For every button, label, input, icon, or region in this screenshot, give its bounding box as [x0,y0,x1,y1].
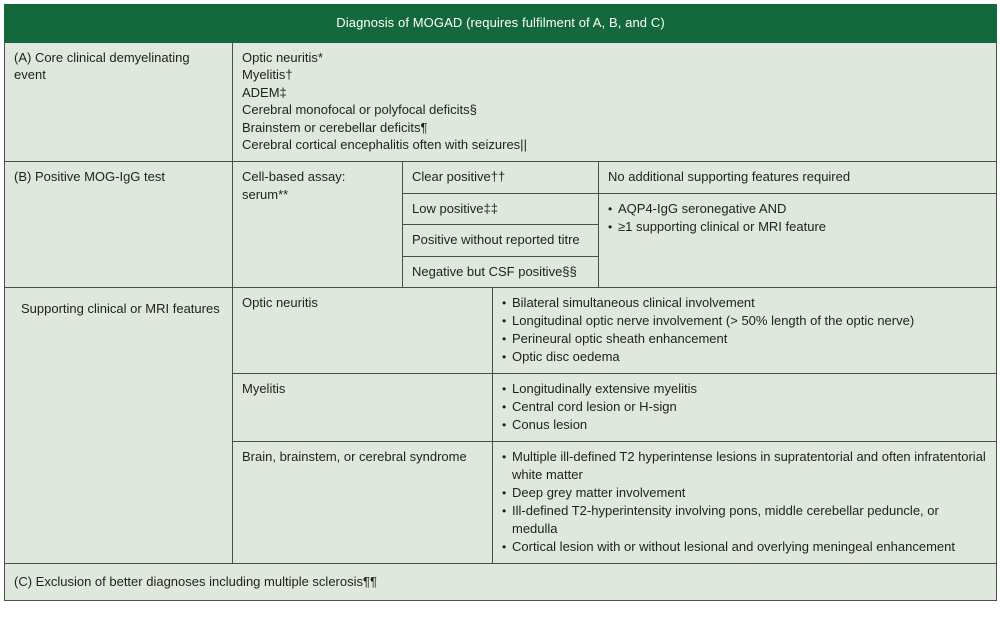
list-item: Ill-defined T2-hyperintensity involving … [502,502,987,538]
brain-brainstem-feature-list: Multiple ill-defined T2 hyperintense les… [502,448,987,556]
section-b-assay-label: Cell-based assay: serum** [233,162,403,288]
supporting-features-myelitis: Longitudinally extensive myelitis Centra… [493,374,997,442]
section-a-content: Optic neuritis* Myelitis† ADEM‡ Cerebral… [233,42,997,162]
mog-igg-result-low-positive: Low positive‡‡ [403,193,599,225]
supporting-row-optic-neuritis: Supporting clinical or MRI features Opti… [5,288,997,374]
section-b-label: (B) Positive MOG-IgG test [5,162,233,288]
section-b-requirement-additional: AQP4-IgG seronegative AND ≥1 supporting … [599,193,997,288]
list-item: Multiple ill-defined T2 hyperintense les… [502,448,987,484]
list-item: Cortical lesion with or without lesional… [502,538,987,556]
optic-neuritis-feature-list: Bilateral simultaneous clinical involvem… [502,294,987,366]
section-c-row: (C) Exclusion of better diagnoses includ… [5,564,997,601]
list-item: Myelitis† [242,66,987,84]
supporting-features-label: Supporting clinical or MRI features [5,288,233,564]
myelitis-feature-list: Longitudinally extensive myelitis Centra… [502,380,987,434]
supporting-group-name-brain-brainstem: Brain, brainstem, or cerebral syndrome [233,442,493,564]
mog-igg-result-positive-without-titre: Positive without reported titre [403,225,599,257]
table-header-row: Diagnosis of MOGAD (requires fulfilment … [5,5,997,43]
section-b-requirement-clear-positive: No additional supporting features requir… [599,162,997,194]
supporting-features-brain-brainstem: Multiple ill-defined T2 hyperintense les… [493,442,997,564]
section-b-row-clear-positive: (B) Positive MOG-IgG test Cell-based ass… [5,162,997,194]
mogad-diagnostic-criteria-table: Diagnosis of MOGAD (requires fulfilment … [4,4,997,601]
list-item: Cerebral cortical encephalitis often wit… [242,136,987,154]
section-a-row: (A) Core clinical demyelinating event Op… [5,42,997,162]
mog-igg-result-negative-csf-positive: Negative but CSF positive§§ [403,256,599,288]
supporting-group-name-optic-neuritis: Optic neuritis [233,288,493,374]
list-item: ADEM‡ [242,84,987,102]
core-clinical-event-list: Optic neuritis* Myelitis† ADEM‡ Cerebral… [242,49,987,155]
list-item: Perineural optic sheath enhancement [502,330,987,348]
list-item: Brainstem or cerebellar deficits¶ [242,119,987,137]
list-item: Central cord lesion or H-sign [502,398,987,416]
section-a-label: (A) Core clinical demyelinating event [5,42,233,162]
mog-igg-result-clear-positive: Clear positive†† [403,162,599,194]
section-c-label: (C) Exclusion of better diagnoses includ… [5,564,997,601]
list-item: AQP4-IgG seronegative AND [608,200,987,218]
mogad-criteria-table-container: Diagnosis of MOGAD (requires fulfilment … [0,0,1000,629]
list-item: Bilateral simultaneous clinical involvem… [502,294,987,312]
list-item: Longitudinal optic nerve involvement (> … [502,312,987,330]
table-title: Diagnosis of MOGAD (requires fulfilment … [5,5,997,43]
list-item: Optic disc oedema [502,348,987,366]
supporting-features-optic-neuritis: Bilateral simultaneous clinical involvem… [493,288,997,374]
additional-requirement-list: AQP4-IgG seronegative AND ≥1 supporting … [608,200,987,236]
list-item: Cerebral monofocal or polyfocal deficits… [242,101,987,119]
list-item: Conus lesion [502,416,987,434]
list-item: ≥1 supporting clinical or MRI feature [608,218,987,236]
supporting-group-name-myelitis: Myelitis [233,374,493,442]
list-item: Deep grey matter involvement [502,484,987,502]
list-item: Optic neuritis* [242,49,987,67]
list-item: Longitudinally extensive myelitis [502,380,987,398]
